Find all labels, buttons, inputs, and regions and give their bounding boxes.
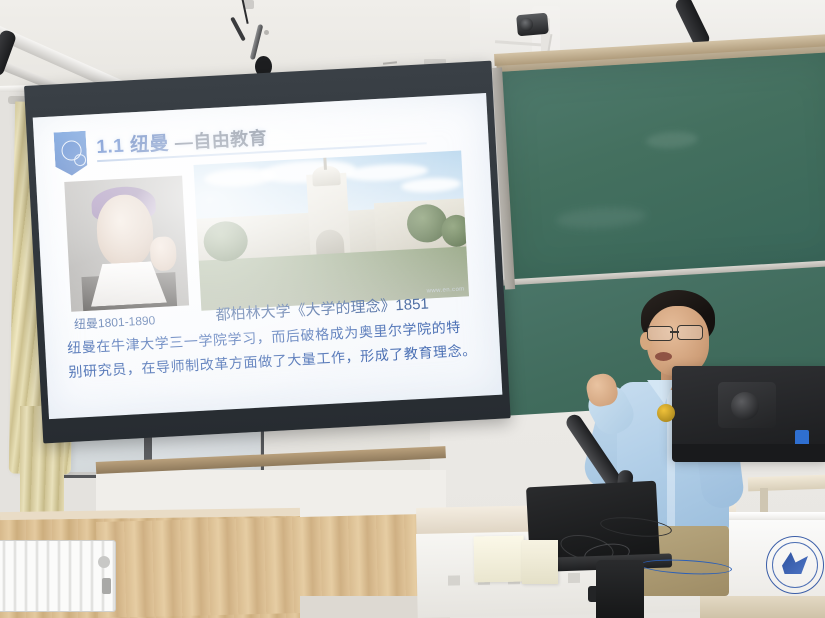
eyeglasses-icon — [647, 326, 673, 341]
portrait-hand — [149, 236, 177, 271]
tower-spire — [323, 156, 327, 170]
monitor-vesa-mount — [731, 392, 759, 420]
cloud — [401, 177, 462, 194]
monitor-arm-joint[interactable] — [657, 404, 675, 422]
portrait-caption: 纽曼1801-1890 — [73, 311, 155, 332]
lecturer-mouth — [655, 352, 672, 361]
slide-title-sub: —自由教育 — [174, 128, 267, 153]
campus-photo-image: www.en.com — [194, 150, 470, 310]
slide-title-number: 1.1 — [96, 136, 125, 158]
wall-radiator — [0, 540, 116, 612]
desk-block-object — [522, 540, 558, 584]
badge-ring — [61, 140, 82, 161]
presentation-slide: 1.1 纽曼 —自由教育 — [33, 93, 503, 419]
shield-emblem-icon — [54, 131, 88, 177]
eyeglasses-icon — [677, 325, 703, 340]
radiator-cap — [98, 556, 110, 568]
projection-screen: 1.1 纽曼 —自由教育 — [24, 61, 511, 446]
newman-portrait-image — [64, 176, 189, 312]
camera-lens-icon — [520, 18, 533, 31]
eyeglasses-bridge — [670, 331, 679, 333]
radiator-valve — [102, 578, 111, 594]
chair-back — [596, 560, 644, 618]
ceiling-fixture-dot — [264, 30, 269, 35]
podium-base — [700, 596, 825, 618]
slide-title-main: 纽曼 — [130, 133, 170, 156]
classroom-photo: 1.1 纽曼 —自由教育 — [0, 0, 825, 618]
monitor-lower-bezel — [672, 444, 825, 462]
desk-block-object — [474, 536, 525, 583]
badge-core — [74, 154, 87, 167]
chalkboard-upper-panel — [498, 52, 825, 286]
